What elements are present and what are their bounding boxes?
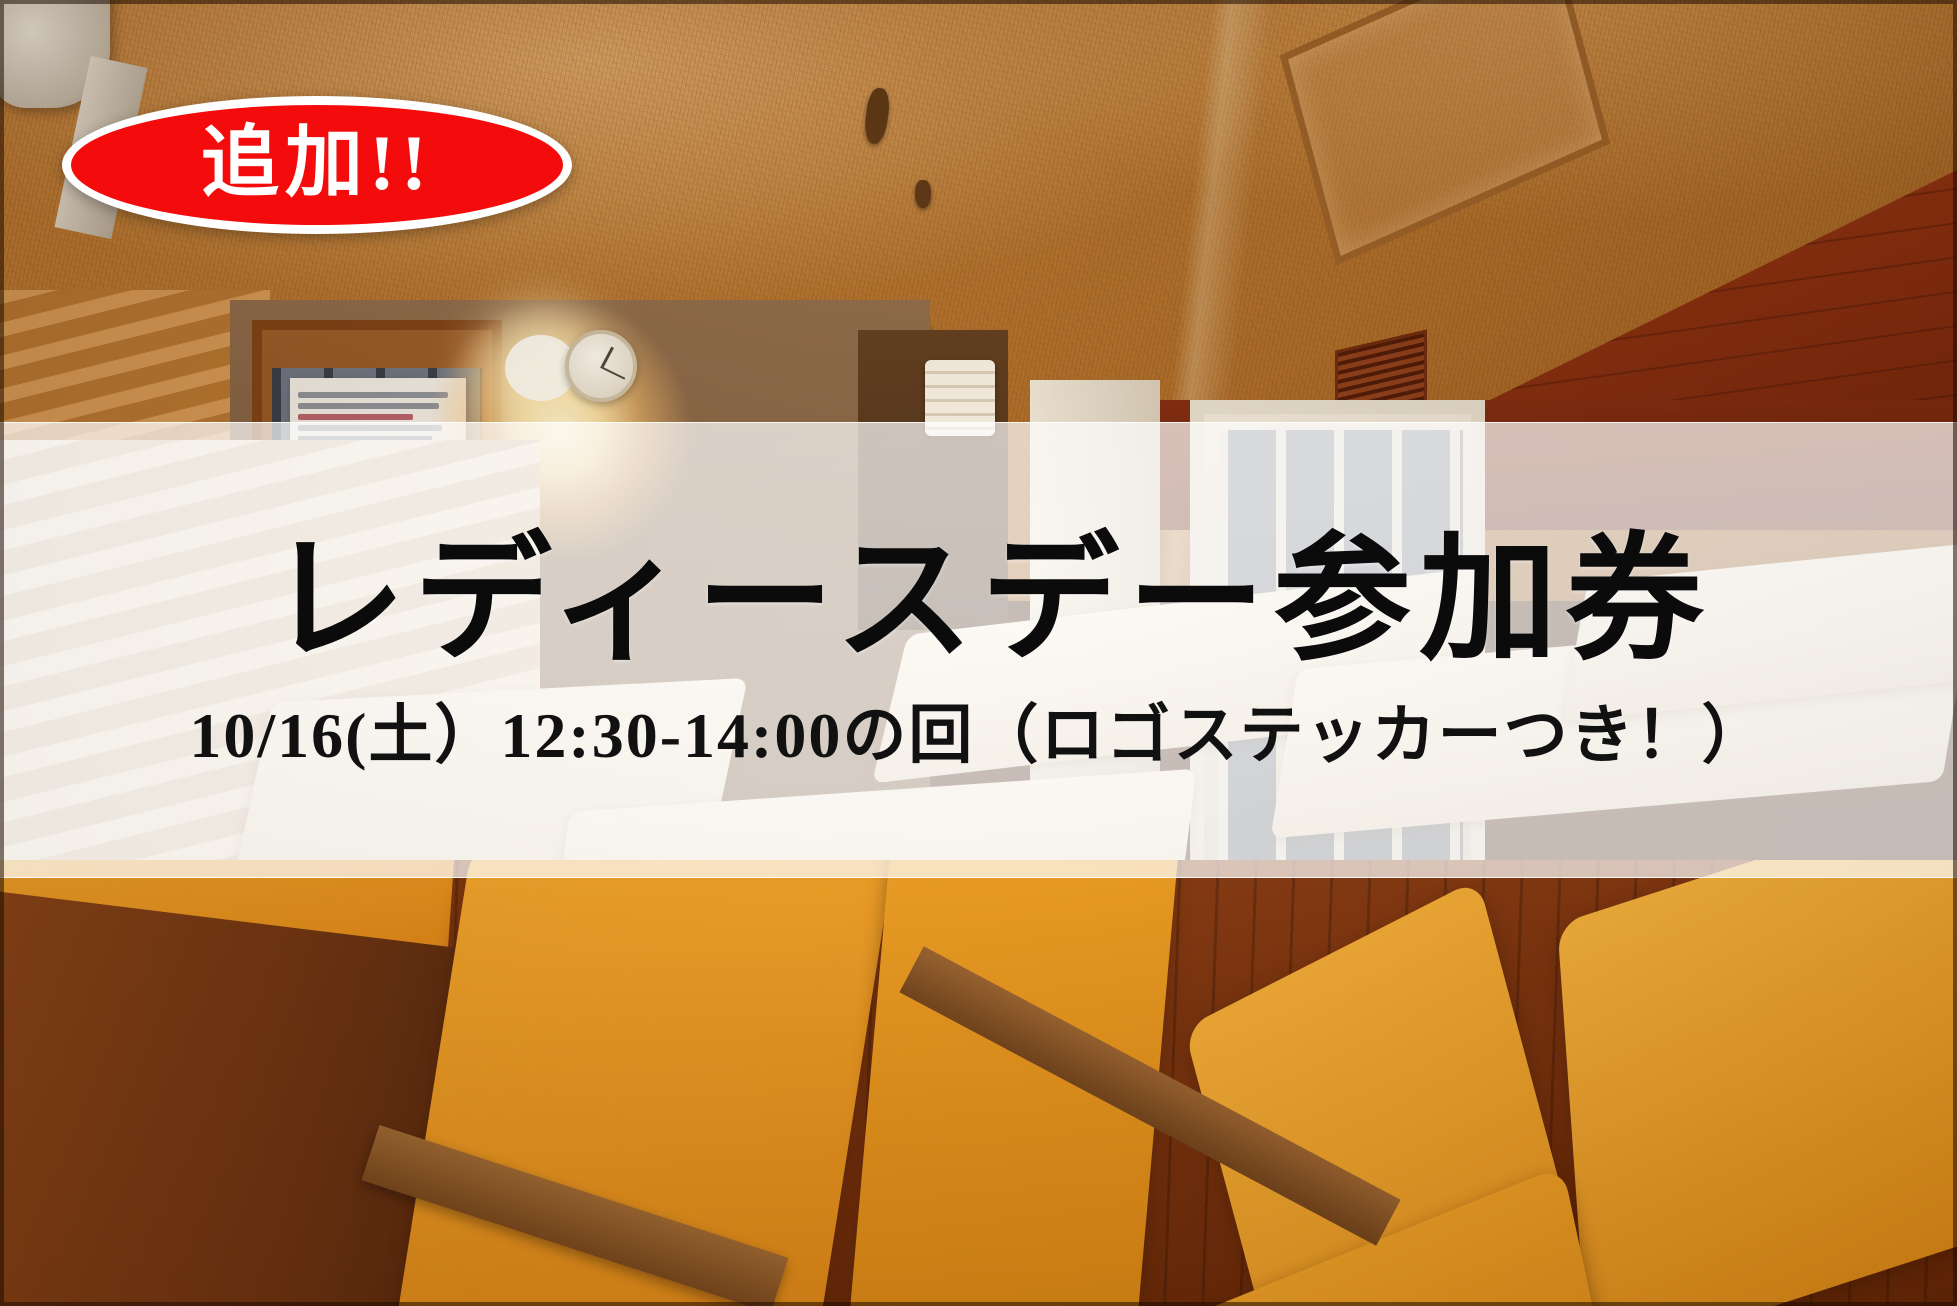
headline-band: レディースデー参加券 10/16(土）12:30-14:00の回（ロゴステッカー… xyxy=(0,422,1957,878)
badge-label: 追加!! xyxy=(201,124,433,202)
page-title: レディースデー参加券 xyxy=(0,531,1957,672)
status-badge: 追加!! xyxy=(62,96,572,234)
lower-bench-area xyxy=(0,860,1957,1306)
sprinkler-nozzle xyxy=(915,180,931,208)
bench-mat-orange xyxy=(1557,860,1957,1306)
wall-clock xyxy=(565,330,637,402)
event-subtitle: 10/16(土）12:30-14:00の回（ロゴステッカーつき！） xyxy=(0,702,1957,769)
poster-root: レディースデー参加券 10/16(土）12:30-14:00の回（ロゴステッカー… xyxy=(0,0,1957,1306)
